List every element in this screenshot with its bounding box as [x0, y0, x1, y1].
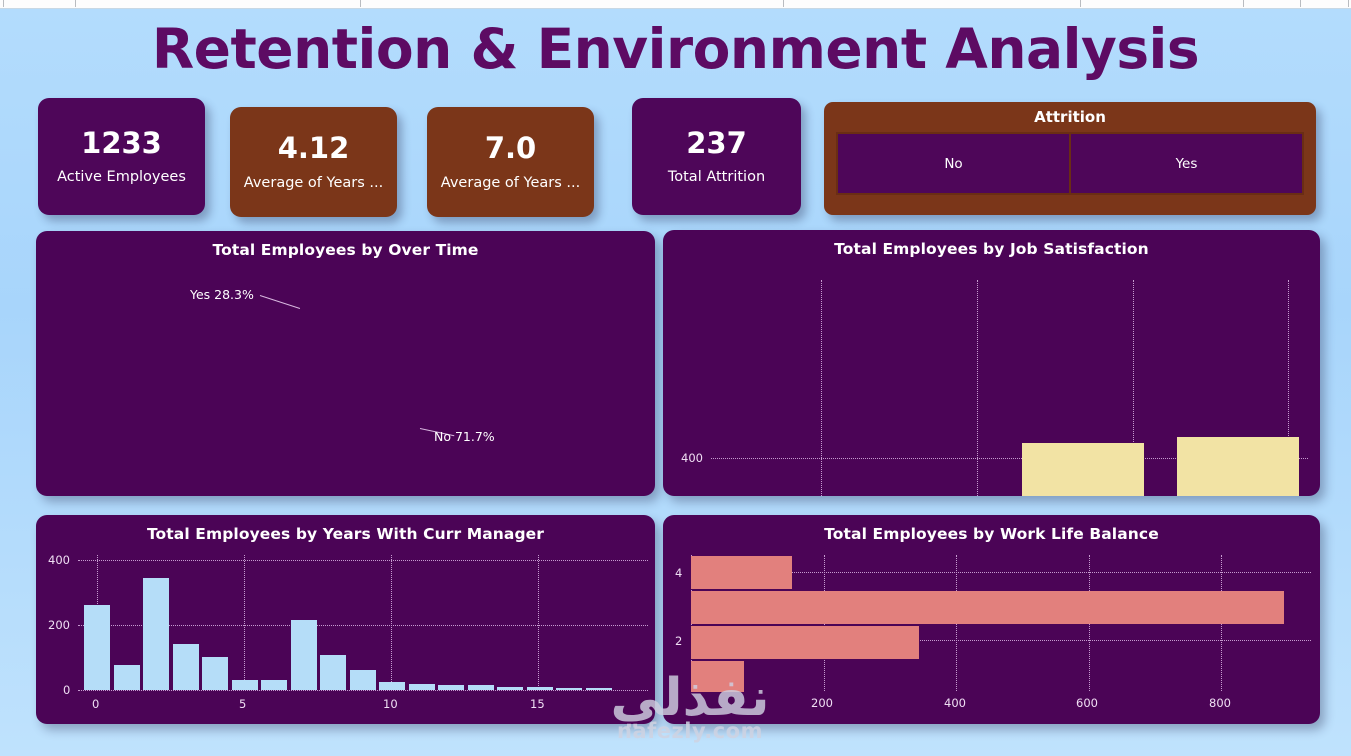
y-tick-label: 0: [63, 683, 70, 697]
bar-years-manager-12[interactable]: [438, 685, 464, 690]
x-tick-label: 200: [811, 696, 833, 710]
chart-title: Total Employees by Over Time: [36, 241, 655, 259]
chart-panel-job-satisfaction[interactable]: Total Employees by Job Satisfaction 400 …: [663, 230, 1320, 496]
y-tick-label: 4: [675, 566, 682, 580]
bar-years-manager-16[interactable]: [556, 688, 582, 690]
bar-years-manager-15[interactable]: [527, 687, 553, 690]
y-tick-label: 2: [675, 634, 682, 648]
x-tick-label: 400: [944, 696, 966, 710]
bar-years-manager-14[interactable]: [497, 687, 523, 690]
pie-label-no: No 71.7%: [434, 429, 495, 444]
chart-panel-years-with-curr-manager[interactable]: Total Employees by Years With Curr Manag…: [36, 515, 655, 724]
bar-work-life-balance-4[interactable]: [691, 556, 792, 589]
x-tick-label: 0: [92, 697, 99, 711]
gridline-x-5: [244, 555, 245, 690]
x-tick-label: 600: [1076, 696, 1098, 710]
bar-chart-work-life-balance[interactable]: 4 2 200 400 600 800: [663, 515, 1320, 724]
gridline-x-10: [391, 555, 392, 690]
pie-label-yes: Yes 28.3%: [190, 287, 254, 302]
x-tick-label: 15: [530, 697, 545, 711]
bar-years-manager-8[interactable]: [320, 655, 346, 690]
bar-years-manager-0[interactable]: [84, 605, 110, 690]
bar-years-manager-10[interactable]: [379, 682, 405, 690]
kpi-card-total-attrition[interactable]: 237 Total Attrition: [632, 98, 801, 215]
bar-years-manager-3[interactable]: [173, 644, 199, 690]
gridline-x-2: [977, 280, 978, 496]
bar-years-manager-5[interactable]: [232, 680, 258, 690]
slicer-title: Attrition: [836, 108, 1304, 126]
x-tick-label: 800: [1209, 696, 1231, 710]
attrition-slicer[interactable]: Attrition No Yes: [824, 102, 1316, 215]
pie-leader-line-yes: [260, 295, 300, 309]
slicer-options: No Yes: [836, 132, 1304, 195]
kpi-card-active-employees[interactable]: 1233 Active Employees: [38, 98, 205, 215]
bar-work-life-balance-3[interactable]: [691, 591, 1284, 624]
page-title: Retention & Environment Analysis: [0, 17, 1351, 81]
chart-panel-work-life-balance[interactable]: Total Employees by Work Life Balance 4 2…: [663, 515, 1320, 724]
bar-chart-years-with-curr-manager[interactable]: 400 200 0 0 5 10 15: [36, 515, 655, 724]
bar-years-manager-6[interactable]: [261, 680, 287, 690]
bar-years-manager-1[interactable]: [114, 665, 140, 690]
kpi-value: 4.12: [278, 133, 350, 163]
bar-years-manager-17[interactable]: [586, 688, 612, 690]
y-tick-label: 200: [48, 618, 70, 632]
bar-work-life-balance-1[interactable]: [691, 661, 744, 692]
slicer-option-no[interactable]: No: [838, 134, 1069, 193]
kpi-value: 1233: [81, 128, 162, 158]
x-tick-label: 10: [383, 697, 398, 711]
bar-chart-job-satisfaction[interactable]: 400 200 0 1 2 3 4: [663, 230, 1320, 496]
gridline-y-0: [78, 690, 648, 691]
bar-years-manager-13[interactable]: [468, 685, 494, 690]
kpi-label: Active Employees: [57, 169, 186, 185]
bar-years-manager-7[interactable]: [291, 620, 317, 690]
bar-years-manager-4[interactable]: [202, 657, 228, 690]
x-tick-label: 5: [239, 697, 246, 711]
kpi-value: 7.0: [485, 133, 536, 163]
slicer-option-yes[interactable]: Yes: [1069, 134, 1302, 193]
y-tick-label: 400: [681, 451, 703, 465]
kpi-card-average-of-years-2[interactable]: 7.0 Average of Years ...: [427, 107, 594, 217]
gridline-x-1: [821, 280, 822, 496]
bar-years-manager-2[interactable]: [143, 578, 169, 690]
bar-job-satisfaction-4[interactable]: [1177, 437, 1299, 496]
dashboard-canvas: Retention & Environment Analysis 1233 Ac…: [0, 9, 1351, 756]
bar-years-manager-11[interactable]: [409, 684, 435, 690]
y-tick-label: 400: [48, 553, 70, 567]
kpi-label: Average of Years ...: [244, 175, 383, 191]
bar-job-satisfaction-3[interactable]: [1022, 443, 1144, 496]
kpi-value: 237: [686, 128, 747, 158]
bar-years-manager-9[interactable]: [350, 670, 376, 690]
kpi-label: Total Attrition: [668, 169, 765, 185]
window-toolbar-strip: [0, 0, 1351, 9]
kpi-label: Average of Years ...: [441, 175, 580, 191]
bar-work-life-balance-2[interactable]: [691, 626, 919, 659]
gridline-x-15: [538, 555, 539, 690]
gridline-y-400: [78, 560, 648, 561]
kpi-card-average-of-years-1[interactable]: 4.12 Average of Years ...: [230, 107, 397, 217]
chart-panel-over-time[interactable]: Total Employees by Over Time Yes 28.3% N…: [36, 231, 655, 496]
